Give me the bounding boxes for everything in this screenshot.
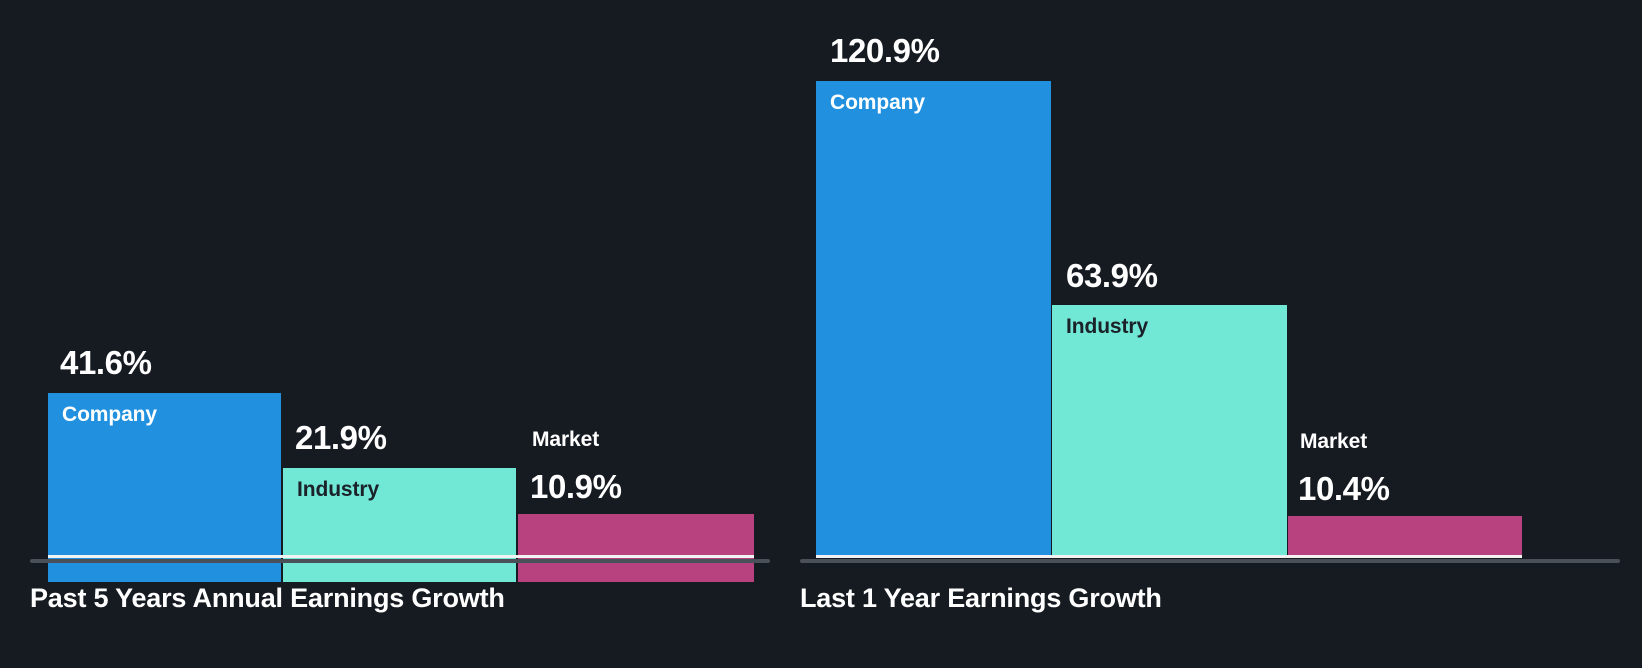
value-label-industry: 21.9%: [295, 421, 387, 454]
axis-underline: [48, 555, 754, 558]
value-label-market: 10.9%: [530, 470, 622, 503]
bar-market[interactable]: [1288, 516, 1522, 555]
plot-area-right: 120.9% Company 63.9% Industry Market 10.…: [800, 0, 1642, 668]
chart-panel-past-5-years: 41.6% Company 21.9% Industry Market 10.9…: [0, 0, 800, 668]
bar-industry[interactable]: Industry: [283, 468, 516, 582]
bar-label-market: Market: [1300, 430, 1367, 454]
bar-label-company: Company: [62, 403, 157, 427]
value-label-market: 10.4%: [1298, 472, 1390, 505]
axis-baseline: [30, 559, 770, 563]
value-label-industry: 63.9%: [1066, 259, 1158, 292]
chart-title-right: Last 1 Year Earnings Growth: [800, 583, 1162, 614]
bar-label-industry: Industry: [1066, 315, 1148, 339]
bar-label-market: Market: [532, 428, 599, 452]
bar-label-industry: Industry: [297, 478, 379, 502]
chart-panel-last-1-year: 120.9% Company 63.9% Industry Market 10.…: [800, 0, 1642, 668]
bar-label-company: Company: [830, 91, 925, 115]
bar-market[interactable]: [518, 514, 754, 582]
axis-underline: [816, 555, 1522, 558]
axis-baseline: [800, 559, 1620, 563]
plot-area-left: 41.6% Company 21.9% Industry Market 10.9…: [0, 0, 800, 668]
earnings-growth-comparison: 41.6% Company 21.9% Industry Market 10.9…: [0, 0, 1642, 668]
chart-title-left: Past 5 Years Annual Earnings Growth: [30, 583, 505, 614]
bar-company[interactable]: Company: [48, 393, 281, 582]
value-label-company: 120.9%: [830, 34, 940, 67]
bar-industry[interactable]: Industry: [1052, 305, 1287, 555]
bar-company[interactable]: Company: [816, 81, 1051, 555]
value-label-company: 41.6%: [60, 346, 152, 379]
